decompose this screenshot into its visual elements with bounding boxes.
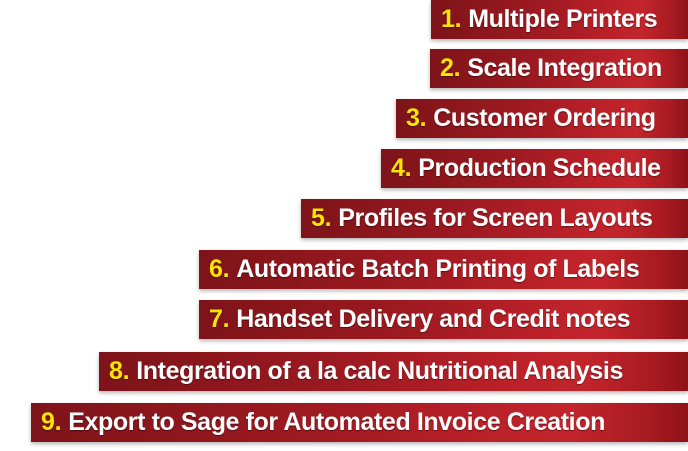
feature-bar: 4.Production Schedule <box>381 149 688 188</box>
staircase-diagram: 1.Multiple Printers2.Scale Integration3.… <box>0 0 688 451</box>
feature-number: 4. <box>391 154 411 183</box>
feature-number: 7. <box>209 305 229 334</box>
feature-bar: 8.Integration of a la calc Nutritional A… <box>99 352 688 391</box>
feature-number: 2. <box>440 54 460 83</box>
feature-label: Profiles for Screen Layouts <box>338 204 652 233</box>
feature-number: 1. <box>441 5 461 34</box>
feature-label: Export to Sage for Automated Invoice Cre… <box>68 408 605 437</box>
feature-bar: 9.Export to Sage for Automated Invoice C… <box>31 403 688 442</box>
feature-number: 8. <box>109 357 129 386</box>
feature-number: 9. <box>41 408 61 437</box>
feature-label: Scale Integration <box>467 54 662 83</box>
feature-bar: 6.Automatic Batch Printing of Labels <box>199 250 688 289</box>
feature-label: Integration of a la calc Nutritional Ana… <box>136 357 623 386</box>
feature-bar: 7.Handset Delivery and Credit notes <box>199 300 688 339</box>
feature-label: Customer Ordering <box>433 104 655 133</box>
feature-number: 3. <box>406 104 426 133</box>
feature-bar: 2.Scale Integration <box>430 49 688 88</box>
feature-label: Production Schedule <box>418 154 660 183</box>
feature-bar: 3.Customer Ordering <box>396 99 688 138</box>
feature-label: Handset Delivery and Credit notes <box>236 305 630 334</box>
feature-number: 6. <box>209 255 229 284</box>
feature-bar: 5.Profiles for Screen Layouts <box>301 199 688 238</box>
feature-label: Automatic Batch Printing of Labels <box>236 255 639 284</box>
feature-bar: 1.Multiple Printers <box>431 0 688 39</box>
feature-label: Multiple Printers <box>468 5 657 34</box>
feature-number: 5. <box>311 204 331 233</box>
